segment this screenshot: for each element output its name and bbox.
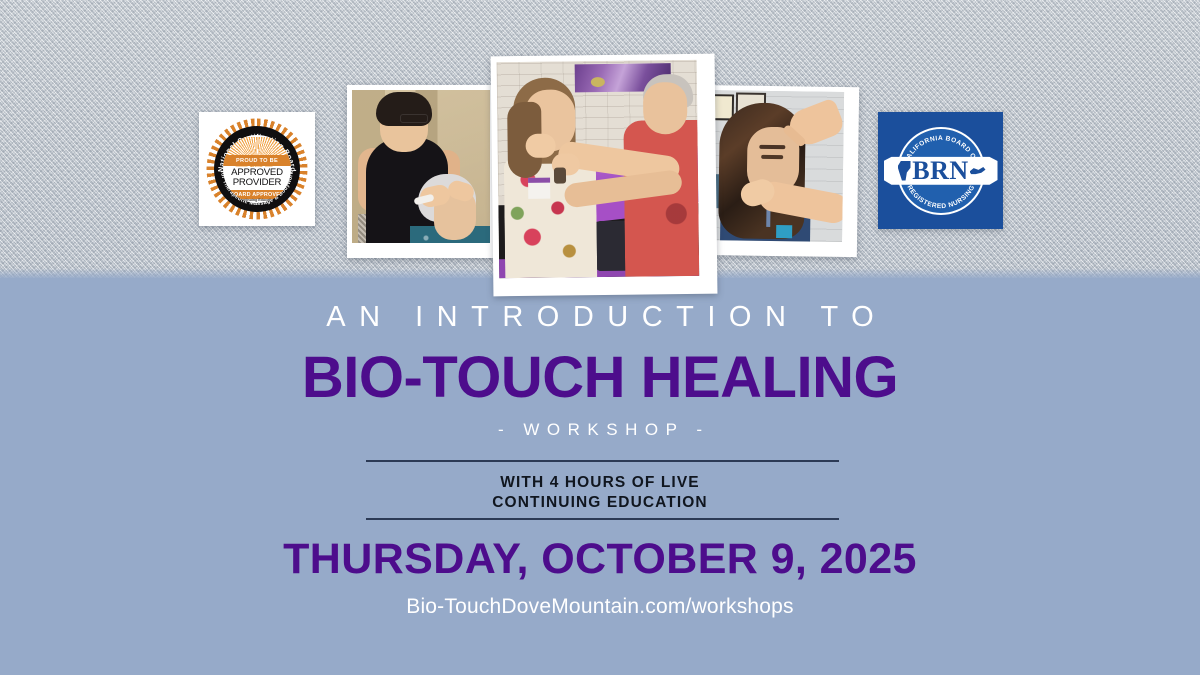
seal-provider-label: PROVIDER <box>233 178 282 188</box>
event-date: THURSDAY, OCTOBER 9, 2025 <box>0 536 1200 583</box>
brn-banner: BRN <box>884 154 998 188</box>
brn-wordmark: BRN <box>912 156 968 186</box>
ce-line-two: CONTINUING EDUCATION <box>0 493 1200 513</box>
seal-approved-provider: APPROVED PROVIDER <box>223 166 291 190</box>
photo-right-badge-tag <box>776 225 792 238</box>
seal-proud-label: PROUD TO BE <box>236 158 278 164</box>
seal-proud-bar: PROUD TO BE <box>223 155 291 166</box>
headline-intro: AN INTRODUCTION TO <box>0 303 1200 332</box>
photo-neck-treatment-pair <box>491 54 718 297</box>
divider-top <box>366 460 839 462</box>
photo-right-closed-eye <box>761 155 783 159</box>
headline-subtitle: - WORKSHOP - <box>0 421 1200 438</box>
divider-bottom <box>366 518 839 520</box>
photo-right-eyebrow <box>759 145 785 149</box>
ce-line-one: WITH 4 HOURS OF LIVE <box>0 473 1200 493</box>
seal-fine-print: Continuing Education Provider <box>223 199 291 203</box>
continuing-education-note: WITH 4 HOURS OF LIVE CONTINUING EDUCATIO… <box>0 473 1200 513</box>
ncbtmb-approved-provider-seal: National Certification Board for Therape… <box>199 112 315 226</box>
photo-mid-hand-neck <box>525 134 555 158</box>
brn-arc-bottom-label: REGISTERED NURSING <box>905 184 976 210</box>
seal-board-approved-label: BOARD APPROVED <box>230 192 284 198</box>
photo-mid-wristwatch <box>554 167 566 183</box>
registration-url[interactable]: Bio-TouchDoveMountain.com/workshops <box>0 595 1200 618</box>
seal-inner-disc: PROUD TO BE APPROVED PROVIDER BOARD APPR… <box>223 135 291 203</box>
california-brn-logo: CALIFORNIA BOARD OF REGISTERED NURSING B… <box>878 112 1003 229</box>
dove-icon <box>970 166 986 177</box>
photo-left-glasses <box>400 114 428 123</box>
svg-text:REGISTERED NURSING: REGISTERED NURSING <box>905 184 976 210</box>
event-flyer: National Certification Board for Therape… <box>0 0 1200 675</box>
photo-practitioner-with-seated-elder <box>347 85 505 258</box>
photo-mid-practitioner-face <box>643 82 688 135</box>
photo-mid-name-badge <box>528 178 550 199</box>
page-title: BIO-TOUCH HEALING <box>0 347 1200 410</box>
california-state-icon <box>898 161 911 181</box>
